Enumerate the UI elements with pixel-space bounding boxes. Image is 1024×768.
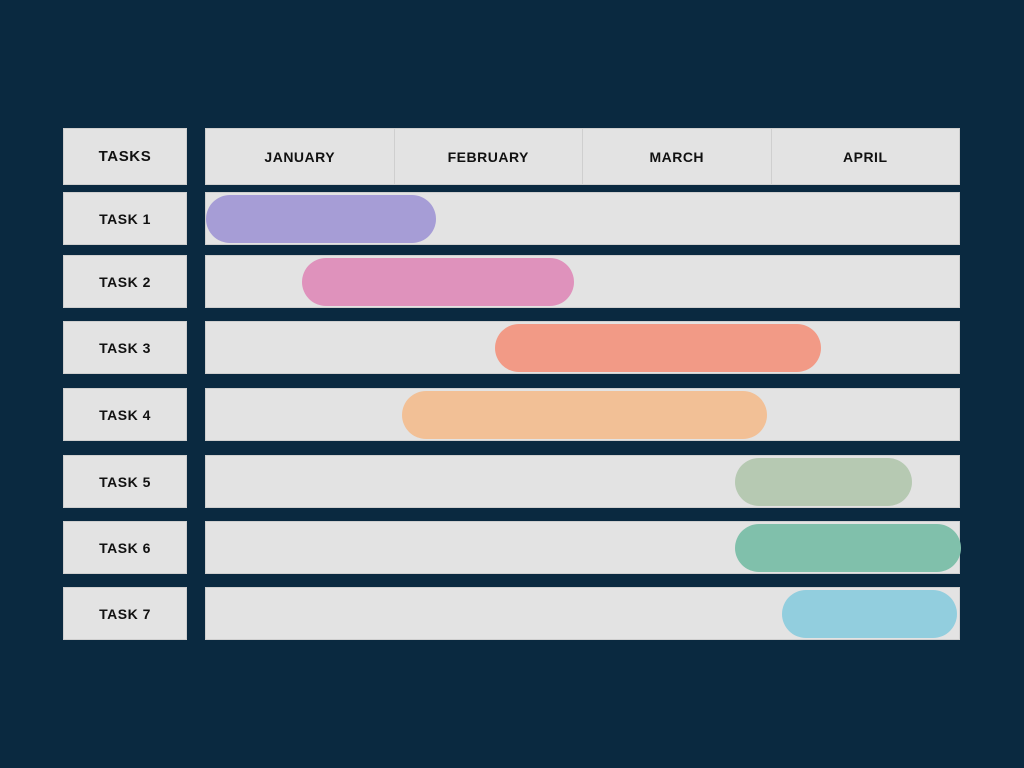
- gantt-chart: TASKS JANUARY FEBRUARY MARCH APRIL TASK …: [63, 128, 960, 644]
- timeline-track[interactable]: [205, 321, 960, 374]
- month-label: JANUARY: [264, 149, 335, 165]
- task-label-cell[interactable]: TASK 2: [63, 255, 187, 308]
- gantt-row-task-7: TASK 7: [63, 587, 960, 640]
- gantt-bar[interactable]: [495, 324, 822, 372]
- month-label: APRIL: [843, 149, 888, 165]
- timeline-track[interactable]: [205, 587, 960, 640]
- gantt-bar[interactable]: [782, 590, 958, 638]
- gantt-row-task-6: TASK 6: [63, 521, 960, 574]
- task-label: TASK 1: [99, 211, 151, 227]
- gantt-row-task-2: TASK 2: [63, 255, 960, 308]
- timeline-track[interactable]: [205, 521, 960, 574]
- tasks-column-header-label: TASKS: [99, 148, 152, 165]
- gantt-bar[interactable]: [735, 524, 962, 572]
- task-label: TASK 4: [99, 407, 151, 423]
- task-label-cell[interactable]: TASK 4: [63, 388, 187, 441]
- task-label: TASK 3: [99, 340, 151, 356]
- timeline-track[interactable]: [205, 255, 960, 308]
- gantt-row-task-1: TASK 1: [63, 192, 960, 245]
- task-label: TASK 5: [99, 474, 151, 490]
- task-label: TASK 6: [99, 540, 151, 556]
- gantt-row-task-5: TASK 5: [63, 455, 960, 508]
- task-label-cell[interactable]: TASK 1: [63, 192, 187, 245]
- month-header-april: APRIL: [772, 129, 960, 184]
- month-label: FEBRUARY: [448, 149, 529, 165]
- task-label-cell[interactable]: TASK 3: [63, 321, 187, 374]
- month-label: MARCH: [649, 149, 704, 165]
- month-header-january: JANUARY: [206, 129, 395, 184]
- gantt-bar[interactable]: [302, 258, 574, 306]
- gantt-bar[interactable]: [402, 391, 766, 439]
- month-header-march: MARCH: [583, 129, 772, 184]
- timeline-track[interactable]: [205, 388, 960, 441]
- gantt-header-row: TASKS JANUARY FEBRUARY MARCH APRIL: [63, 128, 960, 185]
- task-label: TASK 7: [99, 606, 151, 622]
- tasks-column-header: TASKS: [63, 128, 187, 185]
- timeline-track[interactable]: [205, 192, 960, 245]
- gantt-row-task-4: TASK 4: [63, 388, 960, 441]
- gantt-bar[interactable]: [206, 195, 436, 243]
- task-label-cell[interactable]: TASK 7: [63, 587, 187, 640]
- month-header-february: FEBRUARY: [395, 129, 584, 184]
- timeline-header: JANUARY FEBRUARY MARCH APRIL: [205, 128, 960, 185]
- gantt-row-task-3: TASK 3: [63, 321, 960, 374]
- gantt-bar[interactable]: [735, 458, 912, 506]
- timeline-track[interactable]: [205, 455, 960, 508]
- task-label: TASK 2: [99, 274, 151, 290]
- task-label-cell[interactable]: TASK 5: [63, 455, 187, 508]
- task-label-cell[interactable]: TASK 6: [63, 521, 187, 574]
